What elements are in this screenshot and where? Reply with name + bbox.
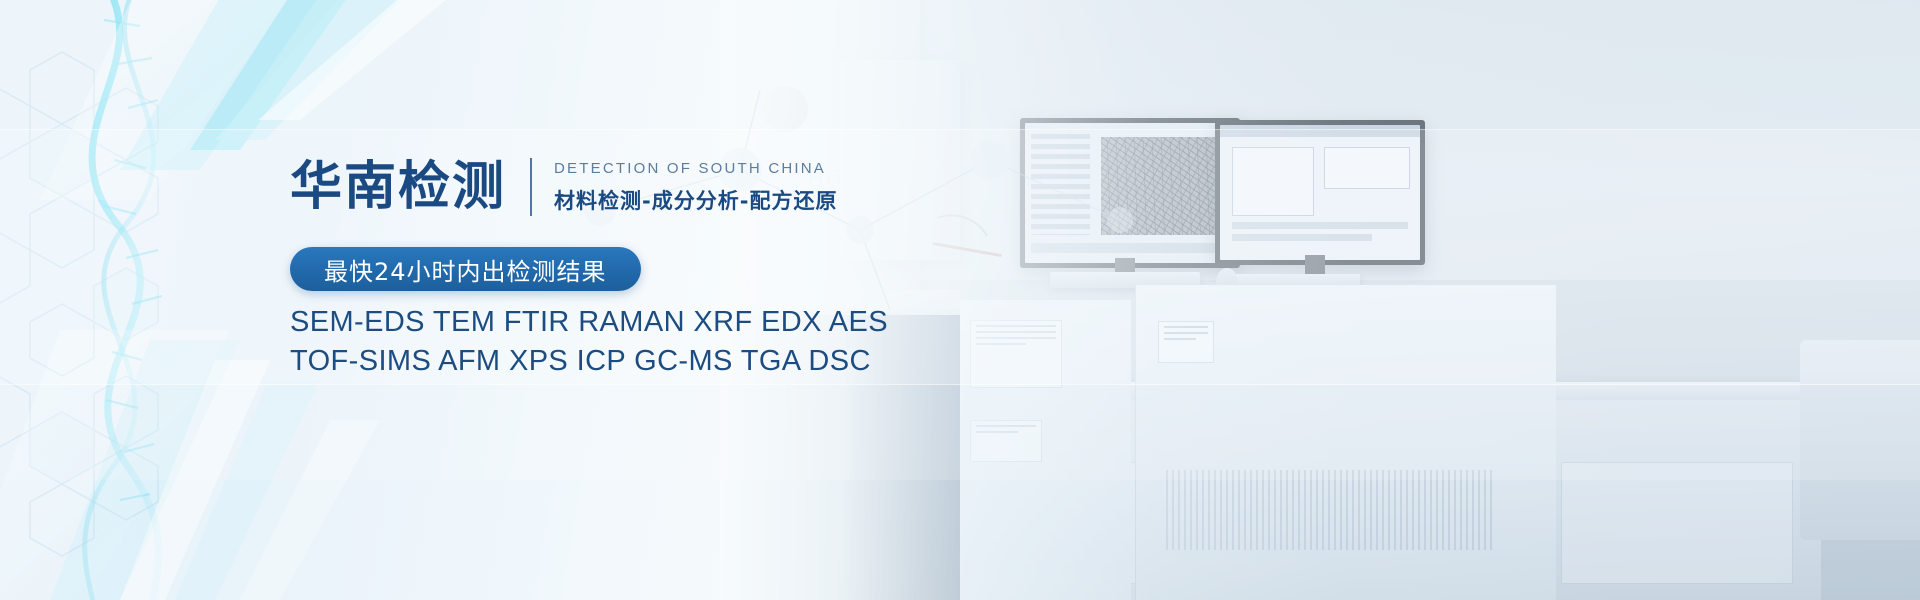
brand-divider: [530, 158, 532, 216]
cta-button[interactable]: 最快24小时内出检测结果: [290, 247, 641, 291]
technique-line-2: TOF-SIMS AFM XPS ICP GC-MS TGA DSC: [290, 342, 888, 381]
brand-tagline-en: DETECTION OF SOUTH CHINA: [554, 159, 837, 179]
brand-taglines: DETECTION OF SOUTH CHINA 材料检测-成分分析-配方还原: [554, 159, 837, 215]
brand-tagline-cn: 材料检测-成分分析-配方还原: [554, 185, 837, 215]
brand-name-cn: 华南检测: [290, 161, 506, 213]
cta-button-label: 最快24小时内出检测结果: [324, 252, 607, 287]
brand-lockup: 华南检测 DETECTION OF SOUTH CHINA 材料检测-成分分析-…: [290, 158, 837, 216]
technique-list: SEM-EDS TEM FTIR RAMAN XRF EDX AES TOF-S…: [290, 303, 888, 381]
promo-banner: HITACHI: [0, 0, 1920, 600]
banner-content: 华南检测 DETECTION OF SOUTH CHINA 材料检测-成分分析-…: [0, 0, 1920, 600]
technique-line-1: SEM-EDS TEM FTIR RAMAN XRF EDX AES: [290, 303, 888, 342]
